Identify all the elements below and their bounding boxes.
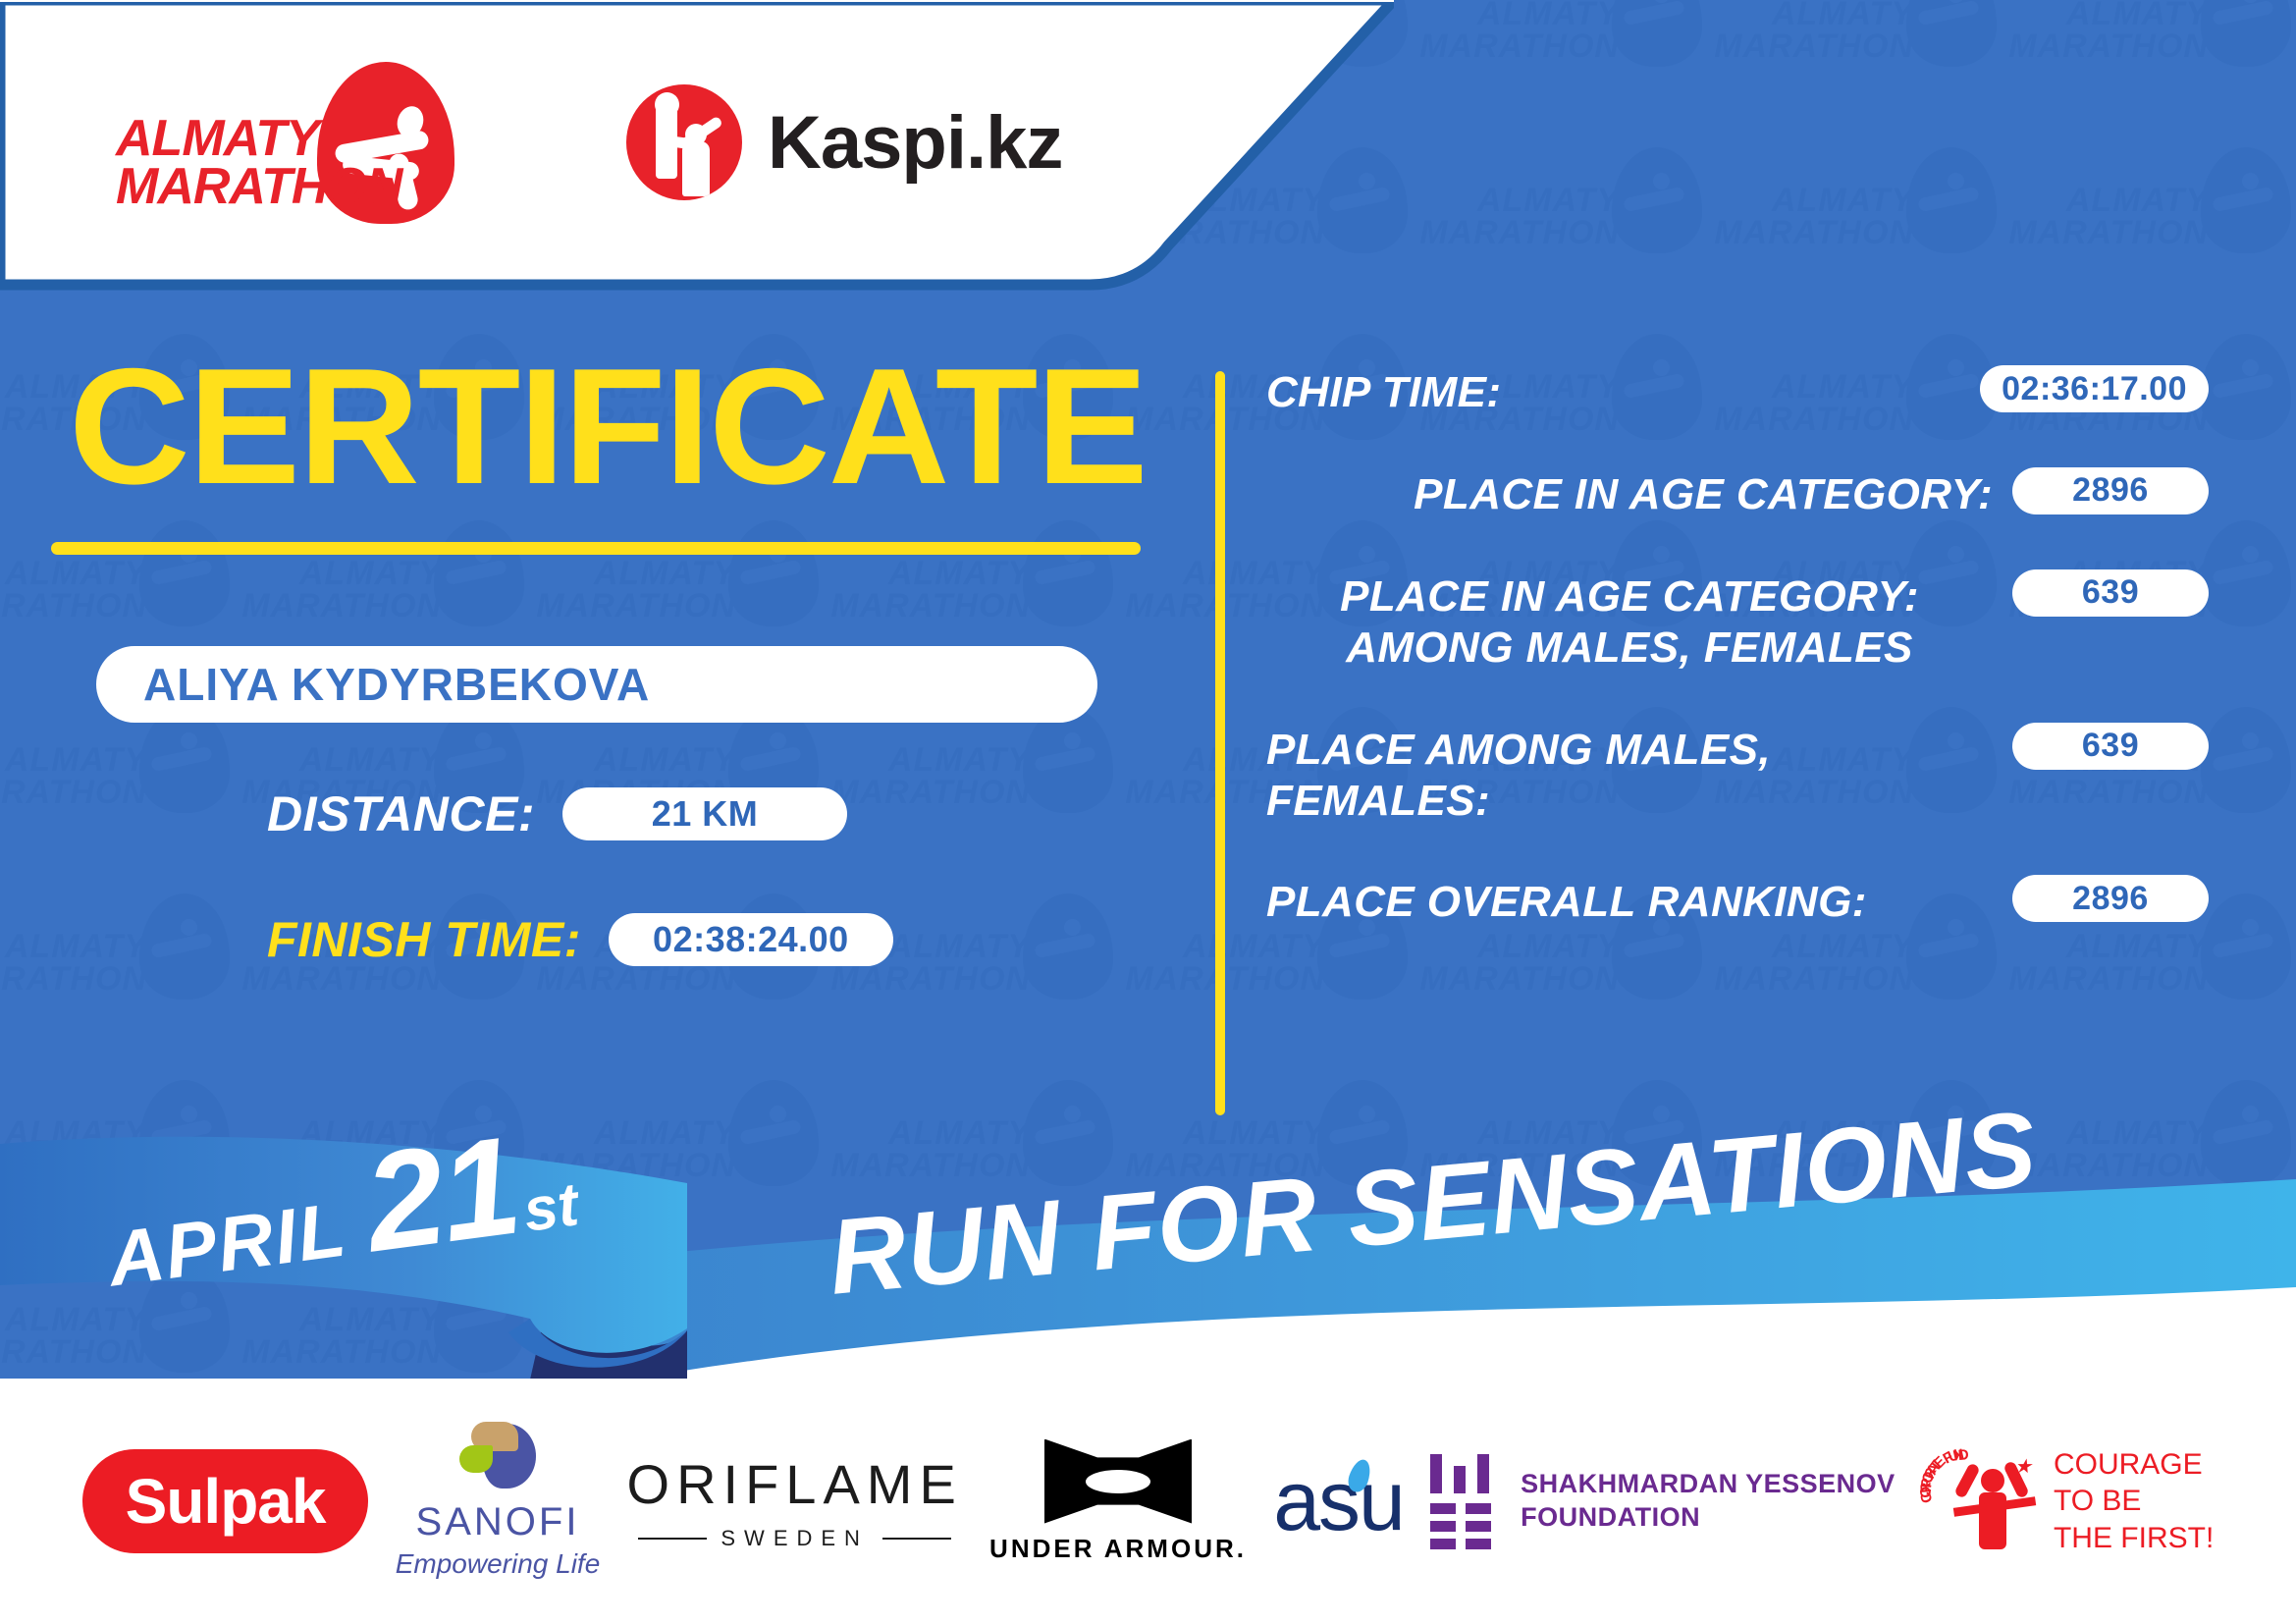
sponsor-courage-fund: CORPORATE FUND ★ COURAGETO BETHE FIRST! xyxy=(1922,1443,2214,1559)
certificate-canvas: ALMATYMARATHONALMATYMARATHONALMATYMARATH… xyxy=(0,0,2296,1624)
courage-emblem-icon: CORPORATE FUND ★ xyxy=(1922,1443,2040,1559)
stat-place-age-category-among-label: PLACE IN AGE CATEGORY: AMONG MALES, FEMA… xyxy=(1266,568,1993,674)
sponsors-footer: Sulpak SANOFI Empowering Life ORIFLAME S… xyxy=(0,1379,2296,1624)
sulpak-wordmark: Sulpak xyxy=(82,1449,369,1553)
stat-place-among-males-females-label: PLACE AMONG MALES, FEMALES: xyxy=(1266,721,1993,827)
rule-left xyxy=(638,1538,707,1540)
participant-name-value: ALIYA KYDYRBEKOVA xyxy=(143,658,650,711)
stat-distance: DISTANCE: 21 KM xyxy=(267,785,847,842)
event-day: 21 xyxy=(356,1106,527,1285)
stat-place-among-males-females-pill: 639 xyxy=(2012,723,2209,770)
stat-place-age-category-pill: 2896 xyxy=(2012,467,2209,514)
stat-chip-time-value: 02:36:17.00 xyxy=(2002,370,2187,408)
oriflame-tagline: SWEDEN xyxy=(721,1526,869,1551)
stat-place-age-category-among-value: 639 xyxy=(2082,573,2139,612)
kaspi-people-icon xyxy=(626,84,742,200)
stat-chip-time-label: CHIP TIME: xyxy=(1266,363,1960,418)
under-armour-icon xyxy=(1044,1439,1192,1524)
sponsor-asu: asu xyxy=(1273,1453,1404,1550)
stat-finish-time: FINISH TIME: 02:38:24.00 xyxy=(267,911,893,968)
almaty-marathon-logo: ALMATY MARATHON xyxy=(116,54,440,231)
sanofi-tagline: Empowering Life xyxy=(396,1548,601,1580)
sponsor-oriflame: ORIFLAME SWEDEN xyxy=(627,1452,963,1551)
under-armour-wordmark: UNDER ARMOUR. xyxy=(989,1534,1247,1564)
stat-place-age-category-among-pill: 639 xyxy=(2012,569,2209,617)
oriflame-tagline-row: SWEDEN xyxy=(627,1526,963,1551)
courage-tagline: COURAGETO BETHE FIRST! xyxy=(2054,1446,2214,1556)
sanofi-wordmark: SANOFI xyxy=(396,1500,601,1544)
yessenov-wordmark: SHAKHMARDAN YESSENOV FOUNDATION xyxy=(1521,1468,1896,1535)
yessenov-name: SHAKHMARDAN YESSENOV xyxy=(1521,1468,1896,1501)
sponsor-sulpak: Sulpak xyxy=(82,1449,369,1553)
stat-place-age-category-label: PLACE IN AGE CATEGORY: xyxy=(1266,465,1993,520)
event-month: APRIL xyxy=(103,1184,352,1304)
stat-place-overall-ranking-value: 2896 xyxy=(2072,880,2149,918)
stat-chip-time: CHIP TIME: 02:36:17.00 xyxy=(1266,363,2209,418)
stat-place-overall-ranking-pill: 2896 xyxy=(2012,875,2209,922)
courage-runner-icon: ★ xyxy=(1963,1459,2034,1553)
page-title: CERTIFICATE xyxy=(69,344,1147,509)
yessenov-tagline: FOUNDATION xyxy=(1521,1501,1896,1535)
column-divider xyxy=(1215,371,1225,1115)
stat-place-among-males-females: PLACE AMONG MALES, FEMALES: 639 xyxy=(1266,721,2209,827)
stat-distance-pill: 21 KM xyxy=(562,787,847,840)
stat-place-age-category-among: PLACE IN AGE CATEGORY: AMONG MALES, FEMA… xyxy=(1266,568,2209,674)
stat-distance-value: 21 KM xyxy=(652,793,759,835)
header-logos: ALMATY MARATHON Kaspi.kz xyxy=(0,0,1227,285)
sponsor-under-armour: UNDER ARMOUR. xyxy=(989,1439,1247,1564)
stat-distance-label: DISTANCE: xyxy=(267,785,535,842)
sanofi-icon xyxy=(454,1424,542,1494)
stat-place-age-category: PLACE IN AGE CATEGORY: 2896 xyxy=(1266,465,2209,520)
stat-finish-time-label: FINISH TIME: xyxy=(267,911,581,968)
left-column: CERTIFICATE ALIYA KYDYRBEKOVA DISTANCE: … xyxy=(0,324,1217,1110)
oriflame-wordmark: ORIFLAME xyxy=(627,1452,963,1516)
kaspi-logo: Kaspi.kz xyxy=(626,84,1062,200)
sponsor-sanofi: SANOFI Empowering Life xyxy=(396,1424,601,1580)
kaspi-wordmark: Kaspi.kz xyxy=(768,100,1062,186)
right-column: CHIP TIME: 02:36:17.00 PLACE IN AGE CATE… xyxy=(1266,363,2209,975)
yessenov-icon xyxy=(1430,1454,1495,1548)
title-underline xyxy=(51,542,1141,555)
stat-place-age-category-value: 2896 xyxy=(2072,471,2149,510)
stat-chip-time-pill: 02:36:17.00 xyxy=(1980,365,2209,412)
participant-name-field: ALIYA KYDYRBEKOVA xyxy=(96,646,1097,723)
almaty-marathon-wordmark: ALMATY MARATHON xyxy=(116,115,401,212)
stat-place-overall-ranking: PLACE OVERALL RANKING: 2896 xyxy=(1266,873,2209,928)
stat-finish-time-value: 02:38:24.00 xyxy=(653,919,849,960)
stat-place-among-males-females-value: 639 xyxy=(2082,727,2139,765)
asu-wordmark: asu xyxy=(1273,1454,1404,1548)
stat-finish-time-pill: 02:38:24.00 xyxy=(609,913,893,966)
stat-place-overall-ranking-label: PLACE OVERALL RANKING: xyxy=(1266,873,1993,928)
asu-logo: asu xyxy=(1273,1453,1404,1550)
event-day-suffix: st xyxy=(519,1169,582,1246)
rule-right xyxy=(882,1538,951,1540)
sponsor-yessenov-foundation: SHAKHMARDAN YESSENOV FOUNDATION xyxy=(1430,1454,1896,1548)
